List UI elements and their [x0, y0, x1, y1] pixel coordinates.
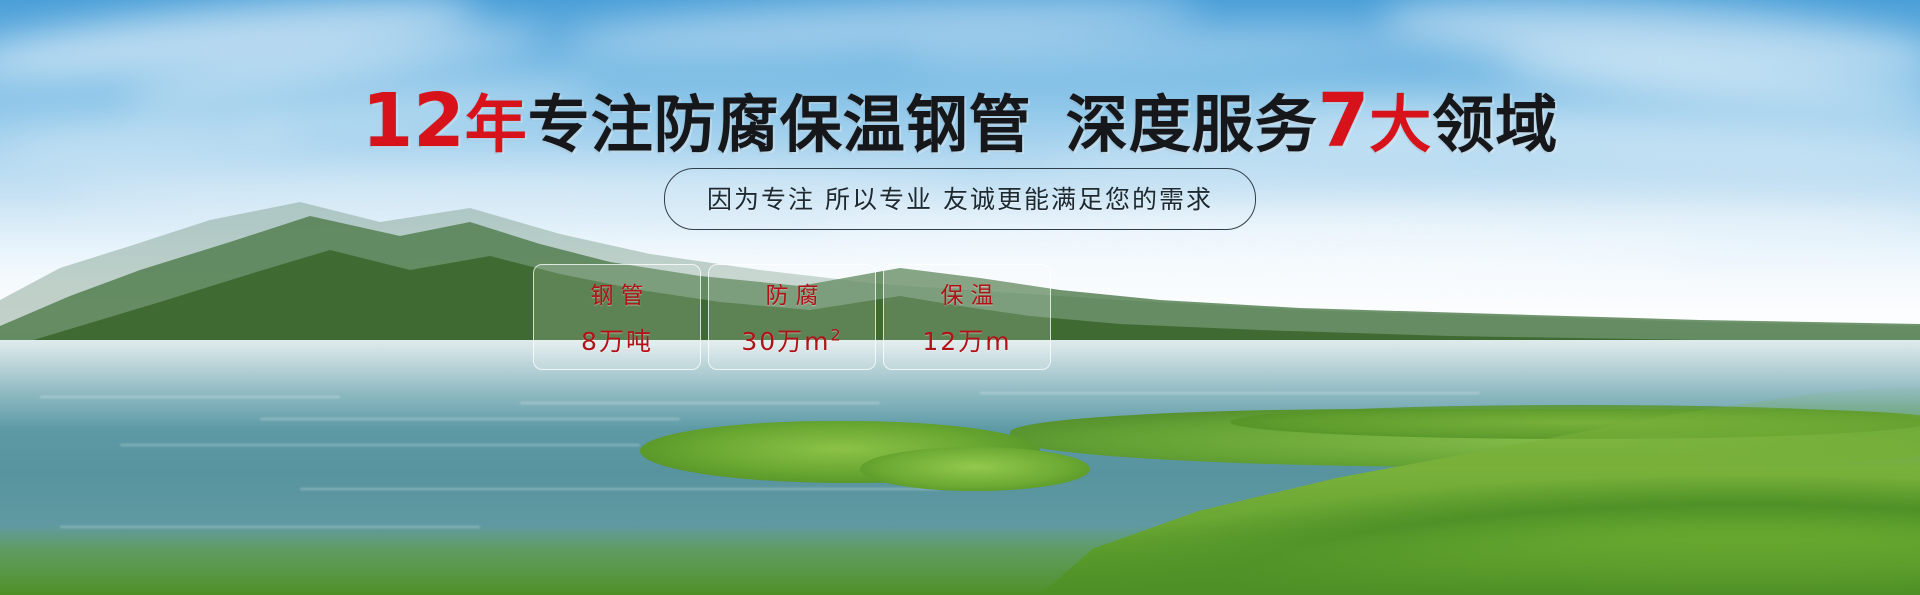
- stat-card-title: 防腐: [759, 276, 826, 310]
- stat-card-value: 12万m: [922, 322, 1011, 358]
- banner-content: 12年专注防腐保温钢管深度服务7大领域 因为专注 所以专业 友诚更能满足您的需求…: [0, 0, 1920, 595]
- stat-card-title: 保温: [934, 276, 1001, 310]
- stat-card-value-text: 30万m: [741, 327, 830, 356]
- stat-card-value-text: 8万吨: [581, 327, 653, 356]
- headline-years-unit: 年: [465, 88, 528, 161]
- headline-fields-number: 7: [1318, 78, 1370, 164]
- stat-card-value-superscript: 2: [830, 326, 842, 345]
- stat-card-list: 钢管 8万吨 防腐 30万m2 保温 12万m: [533, 264, 1051, 370]
- stat-card-value-text: 12万m: [922, 327, 1011, 356]
- stat-card-value: 8万吨: [581, 322, 653, 358]
- stat-card: 保温 12万m: [883, 264, 1051, 370]
- headline: 12年专注防腐保温钢管深度服务7大领域: [0, 84, 1920, 158]
- headline-main-text: 专注防腐保温钢管: [528, 88, 1032, 161]
- stat-card: 防腐 30万m2: [708, 264, 876, 370]
- stat-card-value: 30万m2: [741, 322, 842, 358]
- headline-fields-tail: 领域: [1432, 88, 1558, 161]
- headline-service-text: 深度服务: [1066, 88, 1318, 161]
- headline-fields-unit: 大: [1369, 88, 1432, 161]
- headline-years-number: 12: [362, 78, 465, 164]
- stat-card-title: 钢管: [584, 276, 651, 310]
- subtitle-container: 因为专注 所以专业 友诚更能满足您的需求: [0, 168, 1920, 230]
- hero-banner: 12年专注防腐保温钢管深度服务7大领域 因为专注 所以专业 友诚更能满足您的需求…: [0, 0, 1920, 595]
- subtitle-pill: 因为专注 所以专业 友诚更能满足您的需求: [664, 168, 1256, 230]
- stat-card: 钢管 8万吨: [533, 264, 701, 370]
